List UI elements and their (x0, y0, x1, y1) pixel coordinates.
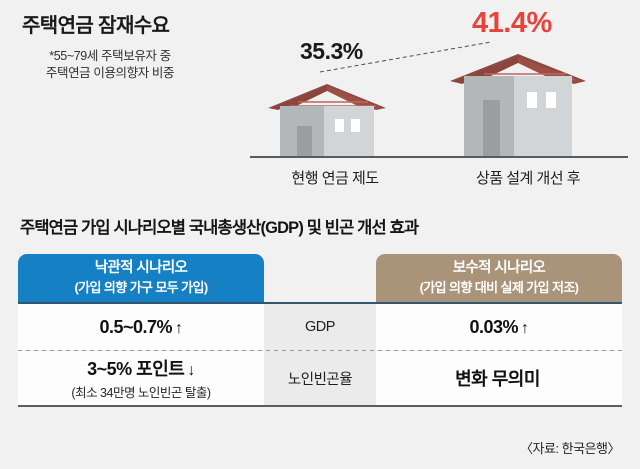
header-optimistic-main: 낙관적 시나리오 (18, 259, 264, 278)
scenario-table-section: 주택연금 가입 시나리오별 국내총생산(GDP) 및 빈곤 개선 효과 낙관적 … (0, 196, 640, 469)
house-wall-left-current (280, 106, 324, 156)
house-door-improved (483, 100, 500, 156)
table-header-conservative: 보수적 시나리오 (가입 의향 대비 실제 가입 저조) (376, 254, 622, 302)
cell-optimistic-poverty: 3~5% 포인트↓ (최소 34만명 노인빈곤 탈출) (18, 351, 264, 405)
header-conservative-main: 보수적 시나리오 (376, 259, 622, 278)
chart-baseline (250, 156, 628, 158)
demand-note: *55~79세 주택보유자 중 주택연금 이용의향자 비중 (20, 48, 200, 82)
table-row: 3~5% 포인트↓ (최소 34만명 노인빈곤 탈출) 노인빈곤율 변화 무의미 (18, 351, 622, 405)
arrow-down-icon: ↓ (187, 362, 195, 379)
house-wall-left-improved (464, 76, 514, 156)
table-header-optimistic: 낙관적 시나리오 (가입 의향 가구 모두 가입) (18, 254, 264, 302)
potential-demand-section: 주택연금 잠재수요 *55~79세 주택보유자 중 주택연금 이용의향자 비중 (0, 0, 640, 196)
house-window-2-current (351, 119, 360, 132)
demand-title: 주택연금 잠재수요 (22, 9, 169, 38)
value-conservative-poverty: 변화 무의미 (455, 365, 543, 391)
house-wall-right-improved (514, 76, 572, 156)
value-optimistic-gdp: 0.5~0.7%↑ (99, 317, 182, 338)
value-label-improved: 41.4% (472, 7, 552, 40)
house-door-current (297, 126, 312, 156)
value-label-current: 35.3% (300, 38, 363, 65)
value-optimistic-poverty: 3~5% 포인트↓ (87, 355, 195, 381)
table-header-spacer (264, 254, 376, 302)
header-conservative-sub: (가입 의향 대비 실제 가입 저조) (376, 278, 622, 297)
table-rule-bottom (18, 405, 622, 407)
house-pictogram-current (268, 84, 386, 156)
metric-label-gdp: GDP (264, 304, 376, 350)
header-optimistic-sub: (가입 의향 가구 모두 가입) (18, 278, 264, 297)
value-conservative-gdp: 0.03%↑ (469, 317, 528, 338)
arrow-up-icon: ↑ (175, 320, 183, 337)
house-wall-right-current (324, 106, 374, 156)
table-title: 주택연금 가입 시나리오별 국내총생산(GDP) 및 빈곤 개선 효과 (20, 214, 418, 238)
demand-chart-plot: 35.3% 41.4% 현행 연금 제도 상품 설계 개선 후 (240, 0, 640, 196)
axis-label-current: 현행 연금 제도 (255, 167, 415, 188)
house-window-1-current (335, 119, 344, 132)
cell-conservative-gdp: 0.03%↑ (376, 304, 622, 350)
table-row: 0.5~0.7%↑ GDP 0.03%↑ (18, 304, 622, 350)
house-pictogram-improved (450, 54, 586, 156)
demand-note-line-1: *55~79세 주택보유자 중 (20, 48, 200, 65)
axis-label-improved: 상품 설계 개선 후 (438, 167, 618, 188)
scenario-table: 낙관적 시나리오 (가입 의향 가구 모두 가입) 보수적 시나리오 (가입 의… (18, 254, 622, 407)
cell-conservative-poverty: 변화 무의미 (376, 351, 622, 405)
house-body-improved (464, 76, 572, 156)
house-window-1-improved (527, 92, 537, 108)
value-optimistic-poverty-note: (최소 34만명 노인빈곤 탈출) (71, 382, 210, 401)
arrow-up-icon: ↑ (521, 320, 529, 337)
house-window-2-improved (546, 92, 556, 108)
bar-improved (450, 54, 586, 156)
metric-label-poverty: 노인빈곤율 (264, 351, 376, 405)
bar-current (268, 84, 386, 156)
source-note: 〈자료: 한국은행〉 (520, 438, 620, 457)
demand-note-line-2: 주택연금 이용의향자 비중 (20, 65, 200, 82)
table-header-row: 낙관적 시나리오 (가입 의향 가구 모두 가입) 보수적 시나리오 (가입 의… (18, 254, 622, 302)
house-body-current (280, 106, 374, 156)
cell-optimistic-gdp: 0.5~0.7%↑ (18, 304, 264, 350)
